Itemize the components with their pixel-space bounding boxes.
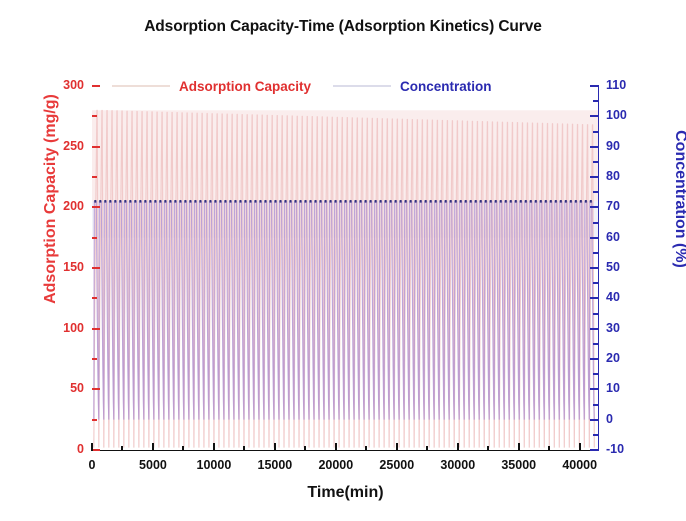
- y-tick-major: [92, 206, 100, 208]
- y-tick-minor: [92, 297, 97, 299]
- y2-tick-minor: [593, 282, 599, 284]
- legend-swatch-line: [112, 85, 170, 87]
- chart-title: Adsorption Capacity-Time (Adsorption Kin…: [0, 18, 686, 36]
- legend-label: Adsorption Capacity: [170, 79, 311, 94]
- y2-tick-label: 60: [606, 230, 652, 244]
- x-axis-label: Time(min): [92, 484, 599, 502]
- x-tick-major: [457, 443, 459, 451]
- y2-tick-minor: [593, 191, 599, 193]
- x-tick-minor: [365, 446, 367, 451]
- y-tick-minor: [92, 419, 97, 421]
- y-axis-right-label: Concentration (%): [671, 54, 686, 344]
- y2-tick-major: [590, 388, 599, 390]
- series-line-concentration: [94, 201, 594, 419]
- y2-tick-major: [590, 115, 599, 117]
- x-tick-major: [91, 443, 93, 451]
- x-tick-minor: [121, 446, 123, 451]
- x-tick-label: 35000: [484, 458, 554, 472]
- y2-tick-minor: [593, 252, 599, 254]
- plot-area: [92, 86, 598, 450]
- y2-tick-minor: [593, 404, 599, 406]
- y-tick-minor: [92, 115, 97, 117]
- legend-item-adsorption-capacity[interactable]: Adsorption Capacity: [112, 79, 311, 94]
- y2-tick-major: [590, 449, 599, 451]
- y2-tick-label: 0: [606, 412, 652, 426]
- y-axis-left-label: Adsorption Capacity (mg/g): [42, 54, 60, 344]
- y2-tick-major: [590, 85, 599, 87]
- x-tick-label: 5000: [118, 458, 188, 472]
- y2-tick-minor: [593, 222, 599, 224]
- x-tick-major: [396, 443, 398, 451]
- x-tick-minor: [243, 446, 245, 451]
- y-tick-minor: [92, 176, 97, 178]
- x-tick-label: 20000: [301, 458, 371, 472]
- x-tick-label: 0: [57, 458, 127, 472]
- y2-tick-label: 110: [606, 78, 652, 92]
- y2-tick-minor: [593, 434, 599, 436]
- x-tick-label: 10000: [179, 458, 249, 472]
- y2-tick-minor: [593, 100, 599, 102]
- x-tick-minor: [548, 446, 550, 451]
- y-tick-minor: [92, 358, 97, 360]
- y2-tick-minor: [593, 313, 599, 315]
- y-tick-major: [92, 146, 100, 148]
- y2-tick-major: [590, 176, 599, 178]
- x-tick-major: [152, 443, 154, 451]
- x-tick-major: [213, 443, 215, 451]
- y-tick-label: 50: [40, 381, 84, 395]
- chart-legend: Adsorption Capacity Concentration: [112, 76, 492, 96]
- x-tick-minor: [426, 446, 428, 451]
- adsorption-kinetics-chart: Adsorption Capacity-Time (Adsorption Kin…: [0, 0, 686, 521]
- series-canvas: [92, 86, 598, 450]
- y2-tick-label: 70: [606, 199, 652, 213]
- y2-tick-label: 20: [606, 351, 652, 365]
- x-tick-major: [335, 443, 337, 451]
- x-tick-minor: [304, 446, 306, 451]
- legend-swatch-line: [333, 85, 391, 87]
- x-tick-minor: [487, 446, 489, 451]
- y2-tick-minor: [593, 373, 599, 375]
- y2-tick-major: [590, 328, 599, 330]
- y2-tick-label: 90: [606, 139, 652, 153]
- y2-tick-label: 80: [606, 169, 652, 183]
- y2-tick-major: [590, 267, 599, 269]
- y2-tick-minor: [593, 343, 599, 345]
- y2-tick-major: [590, 419, 599, 421]
- y2-tick-label: 100: [606, 108, 652, 122]
- y-tick-major: [92, 267, 100, 269]
- legend-label: Concentration: [391, 79, 492, 94]
- x-tick-label: 30000: [423, 458, 493, 472]
- x-tick-major: [579, 443, 581, 451]
- y2-tick-label: 30: [606, 321, 652, 335]
- legend-item-concentration[interactable]: Concentration: [333, 79, 492, 94]
- y2-tick-major: [590, 146, 599, 148]
- y2-tick-minor: [593, 161, 599, 163]
- x-tick-major: [274, 443, 276, 451]
- y2-tick-label: -10: [606, 442, 652, 456]
- y2-tick-minor: [593, 131, 599, 133]
- y-tick-major: [92, 388, 100, 390]
- x-tick-label: 40000: [545, 458, 615, 472]
- y2-tick-label: 40: [606, 290, 652, 304]
- y-tick-minor: [92, 237, 97, 239]
- x-tick-major: [518, 443, 520, 451]
- y2-tick-major: [590, 358, 599, 360]
- x-tick-label: 25000: [362, 458, 432, 472]
- y2-tick-major: [590, 297, 599, 299]
- x-tick-label: 15000: [240, 458, 310, 472]
- y2-tick-major: [590, 206, 599, 208]
- y2-tick-label: 10: [606, 381, 652, 395]
- y-tick-major: [92, 85, 100, 87]
- y2-tick-major: [590, 237, 599, 239]
- x-tick-minor: [182, 446, 184, 451]
- y2-tick-label: 50: [606, 260, 652, 274]
- y-tick-label: 0: [40, 442, 84, 456]
- y-tick-major: [92, 328, 100, 330]
- y-tick-major: [92, 449, 100, 451]
